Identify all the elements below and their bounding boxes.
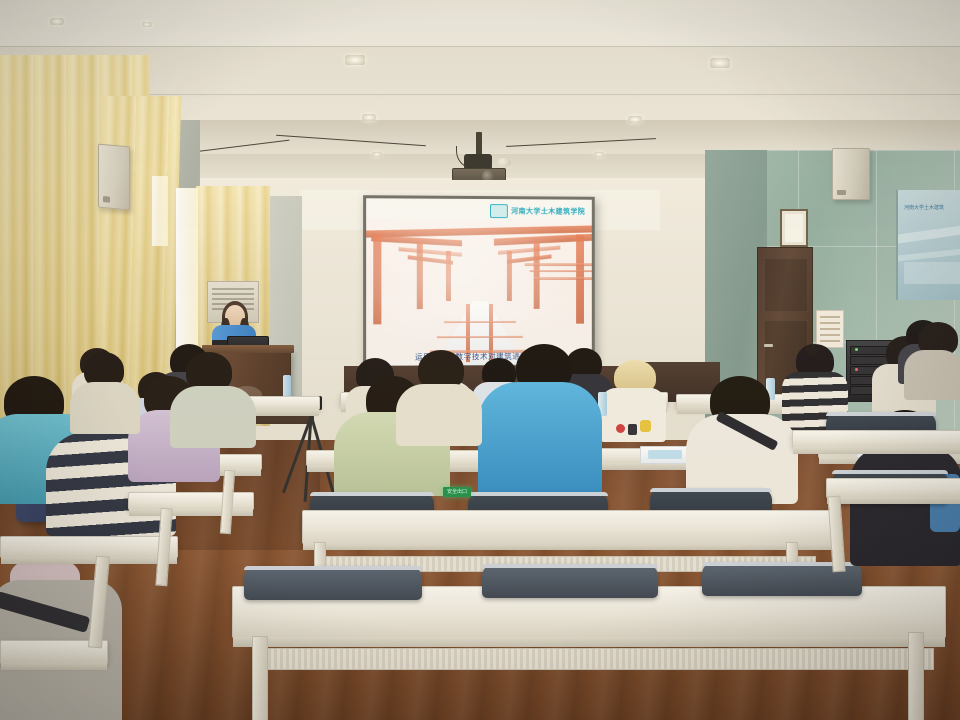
presentation-logo: 河南大学土木建筑学院 (490, 201, 585, 221)
ceiling-downlight-icon (345, 55, 365, 65)
ceiling-downlight-icon (628, 116, 642, 123)
ceiling-downlight-icon (362, 114, 376, 121)
slide-content (366, 218, 592, 365)
ceiling-downlight-icon (372, 152, 382, 157)
desk (128, 492, 254, 510)
smoke-detector-icon (496, 158, 511, 167)
ceiling-downlight-icon (710, 58, 730, 68)
desk (792, 430, 960, 448)
side-screen-text: 河南大学土木建筑 (904, 204, 944, 211)
side-projection-screen: 河南大学土木建筑 (896, 190, 960, 300)
framed-notice (780, 209, 808, 247)
desk (826, 478, 960, 498)
exit-sign: 安全出口 (443, 487, 471, 497)
shirt-graphic-red (616, 424, 625, 433)
window-light-strip-2 (152, 176, 168, 246)
shirt-graphic-dark (628, 424, 637, 435)
university-logo-icon (490, 204, 508, 218)
chair[interactable] (482, 564, 658, 598)
desk-shelf-front (252, 648, 934, 670)
desk-leg (908, 632, 924, 720)
shirt-graphic-yellow (640, 420, 651, 432)
wall-speaker-left (98, 144, 130, 211)
wall-speaker-right (832, 148, 870, 200)
desk (0, 536, 178, 558)
lecture-hall-photo: 河南大学土木建筑学院 运用先进的数字技术对建筑进行策划 河南大学土木建筑 (0, 0, 960, 720)
wall-poster (816, 310, 844, 348)
ceiling-seam-1 (0, 46, 960, 47)
ceiling-downlight-icon (50, 18, 64, 25)
main-projection-screen: 河南大学土木建筑学院 运用先进的数字技术对建筑进行策划 (363, 195, 595, 369)
door-handle-icon[interactable] (764, 344, 773, 347)
desk-row-middle (302, 510, 836, 544)
ceiling-downlight-icon (594, 152, 604, 157)
paper-sheet (648, 450, 682, 459)
desk-leg (252, 636, 268, 720)
ceiling-downlight-icon (142, 22, 152, 27)
logo-text: 河南大学土木建筑学院 (511, 206, 585, 216)
chair[interactable] (244, 566, 422, 600)
